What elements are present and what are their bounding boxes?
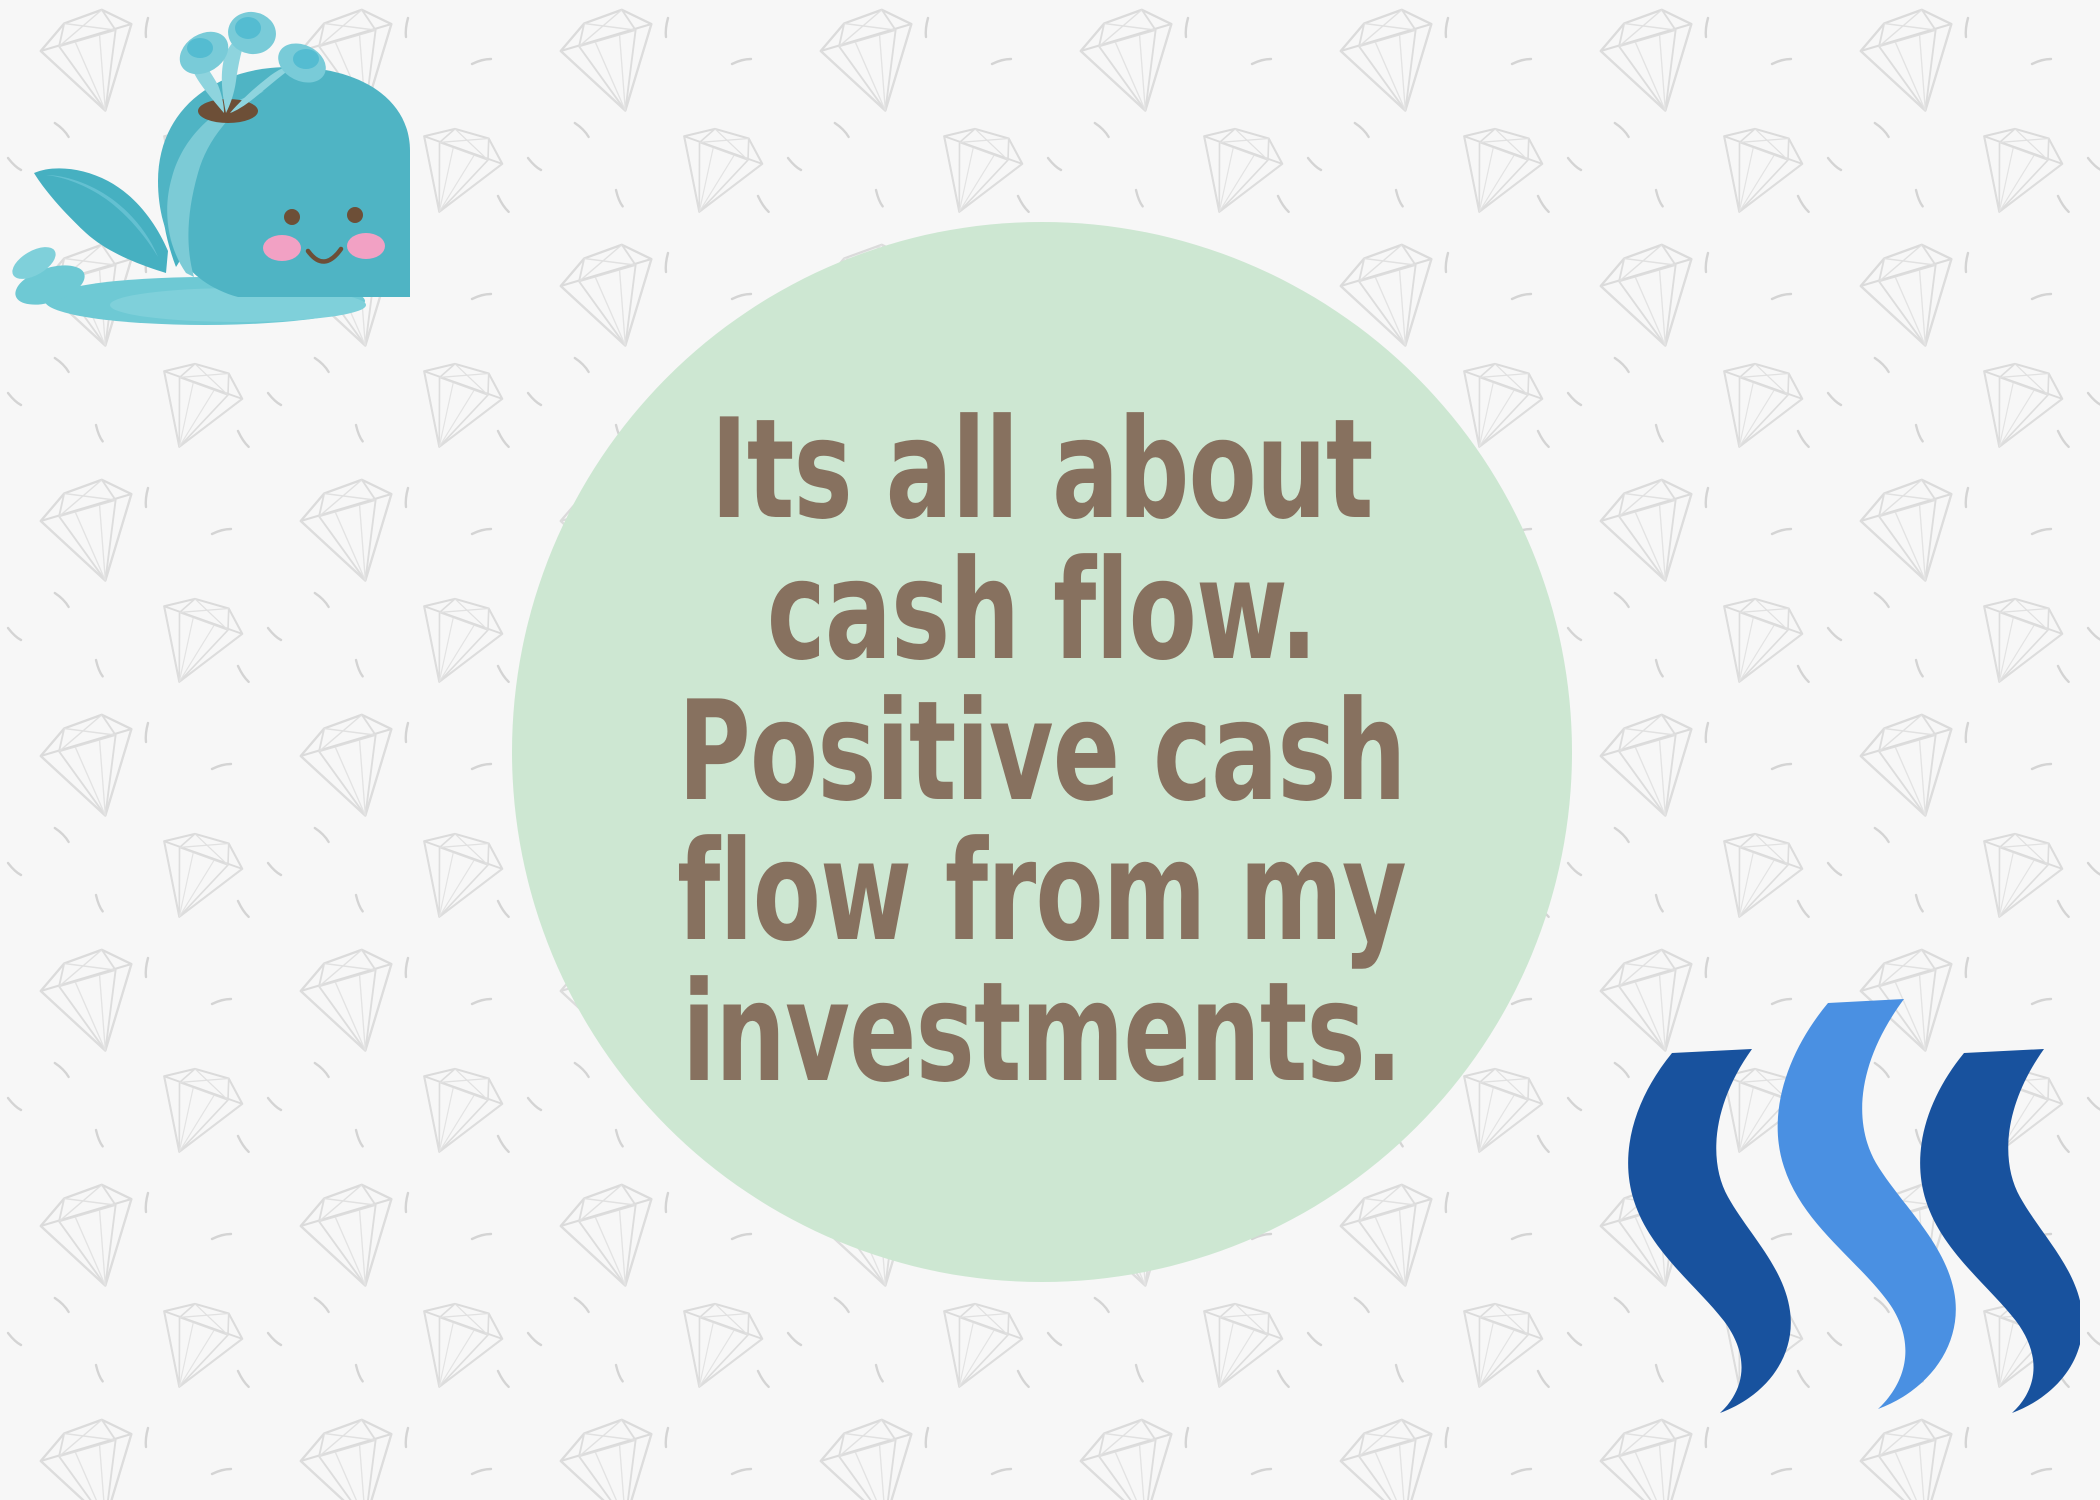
- whale-body: [158, 67, 410, 297]
- whale-spout-drop-2: [235, 17, 261, 39]
- steem-wave-right: [1920, 1049, 2080, 1413]
- whale-icon: [0, 5, 410, 335]
- whale-cheek-right: [347, 233, 385, 259]
- whale-eye-left: [284, 209, 300, 225]
- steem-logo: [1620, 985, 2080, 1435]
- quote-circle-background: [512, 222, 1572, 1282]
- whale-spout-drop-1: [187, 38, 213, 58]
- steem-wave-left: [1628, 1049, 1791, 1413]
- whale-cheek-left: [263, 235, 301, 261]
- whale-spout-drop-3: [293, 49, 319, 69]
- poster-canvas: Its all about cash flow. Positive cash f…: [0, 0, 2100, 1500]
- whale-eye-right: [347, 207, 363, 223]
